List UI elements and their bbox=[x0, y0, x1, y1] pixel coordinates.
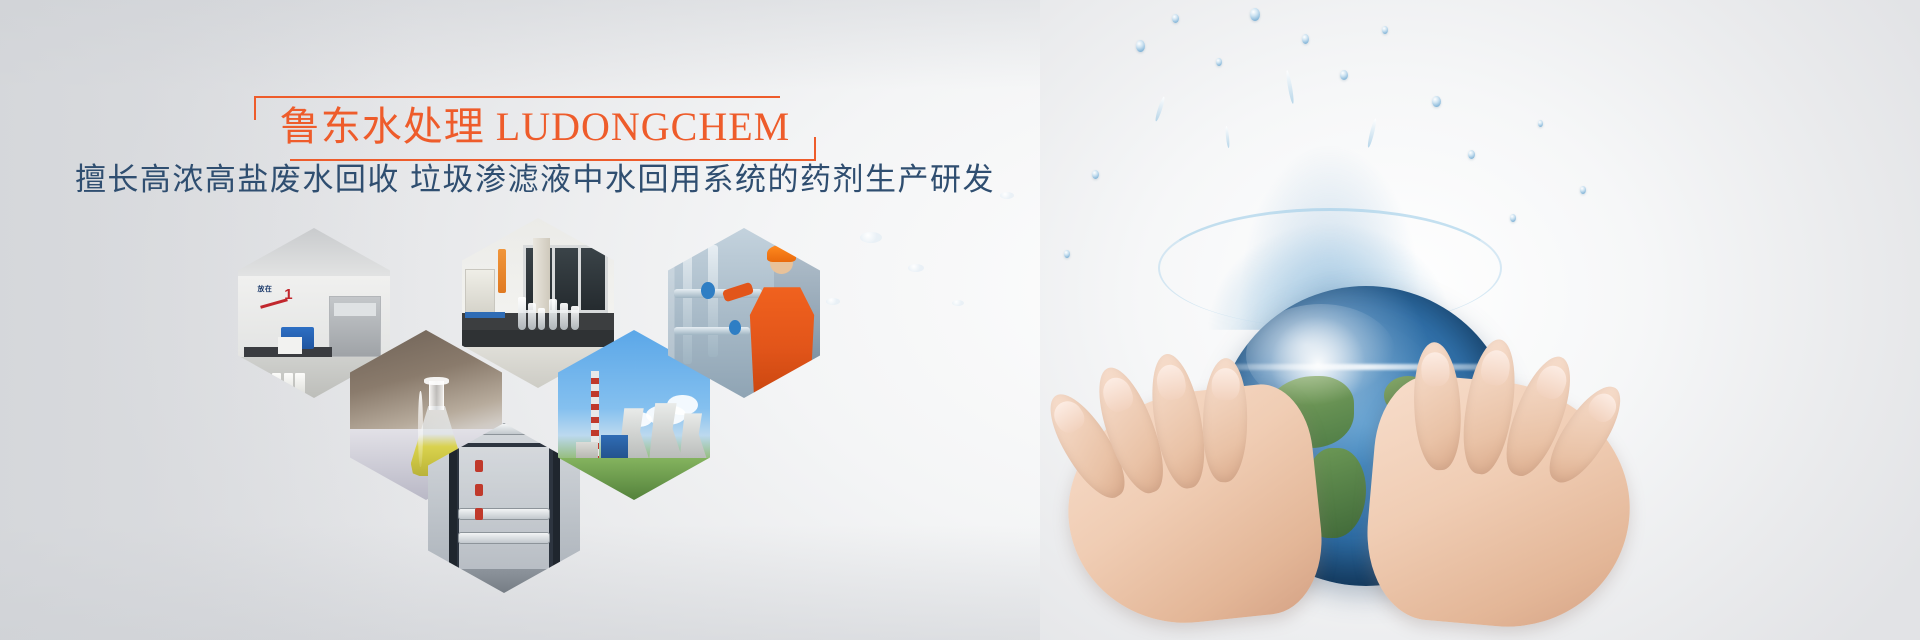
hexagon-photo-cluster: 放在 1 bbox=[238, 218, 948, 518]
air-droplet-icon bbox=[908, 264, 924, 272]
title-bracket-frame: 鲁东水处理 LUDONGCHEM bbox=[254, 96, 816, 161]
air-droplet-icon bbox=[826, 298, 840, 305]
water-globe-photo bbox=[1040, 0, 1920, 640]
banner-hero: 鲁东水处理 LUDONGCHEM 擅长高浓高盐废水回收 垃圾渗滤液中水回用系统的… bbox=[0, 0, 1920, 640]
page-title: 鲁东水处理 LUDONGCHEM bbox=[280, 102, 790, 152]
air-droplet-icon bbox=[860, 232, 882, 243]
headline-block: 鲁东水处理 LUDONGCHEM bbox=[0, 96, 1070, 161]
air-droplet-icon bbox=[952, 300, 964, 306]
water-splash-graphic bbox=[1100, 0, 1560, 330]
wall-slogan-graphic: 放在 1 bbox=[256, 284, 317, 318]
air-droplet-icon bbox=[1000, 192, 1014, 199]
slogan-blue-text: 放在 bbox=[257, 284, 272, 294]
page-subtitle: 擅长高浓高盐废水回收 垃圾渗滤液中水回用系统的药剂生产研发 bbox=[0, 158, 1070, 202]
